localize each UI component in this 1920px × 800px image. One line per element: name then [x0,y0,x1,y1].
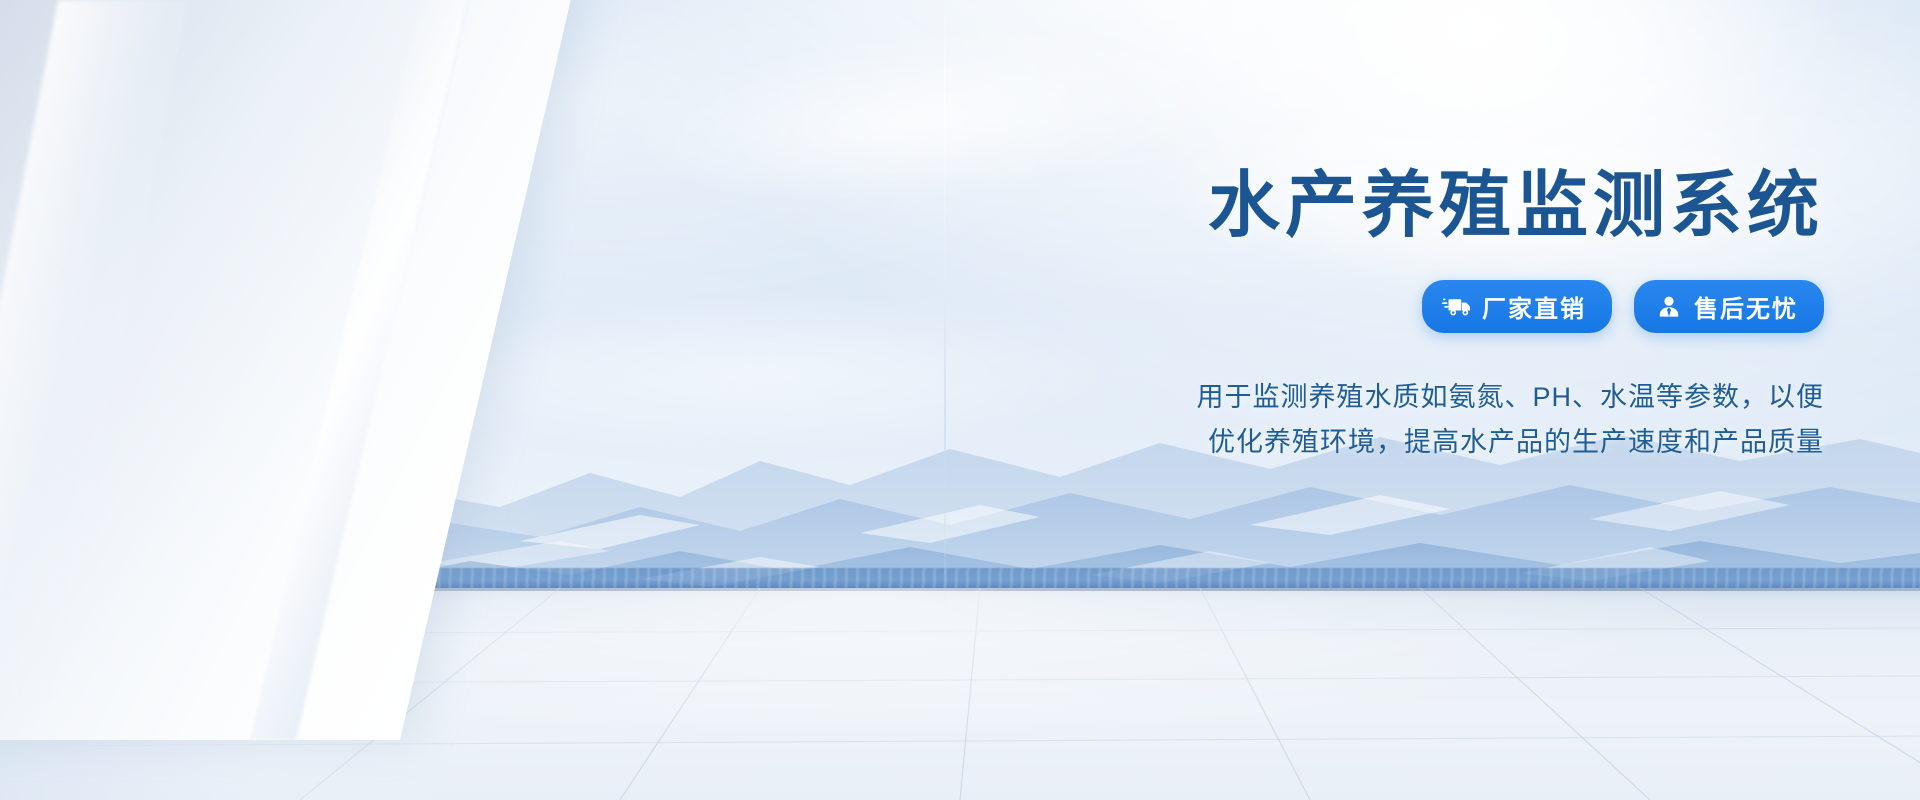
banner-description: 用于监测养殖水质如氨氮、PH、水温等参数，以便 优化养殖环境，提高水产品的生产速… [984,375,1824,465]
page-title: 水产养殖监测系统 [984,168,1824,244]
delivery-truck-icon [1442,293,1472,321]
badge-row: 厂家直销 售后无忧 [984,280,1824,333]
badge-after-sales[interactable]: 售后无忧 [1634,280,1824,333]
banner-content: 水产养殖监测系统 厂家直销 [984,168,1824,465]
description-line-2: 优化养殖环境，提高水产品的生产速度和产品质量 [984,420,1824,465]
badge-factory-direct[interactable]: 厂家直销 [1422,280,1612,333]
hero-banner: 水产养殖监测系统 厂家直销 [0,0,1920,800]
description-line-1: 用于监测养殖水质如氨氮、PH、水温等参数，以便 [984,375,1824,420]
glass-seam [944,0,946,612]
support-agent-icon [1654,293,1684,321]
badge-label: 售后无忧 [1694,289,1798,324]
badge-label: 厂家直销 [1482,289,1586,324]
